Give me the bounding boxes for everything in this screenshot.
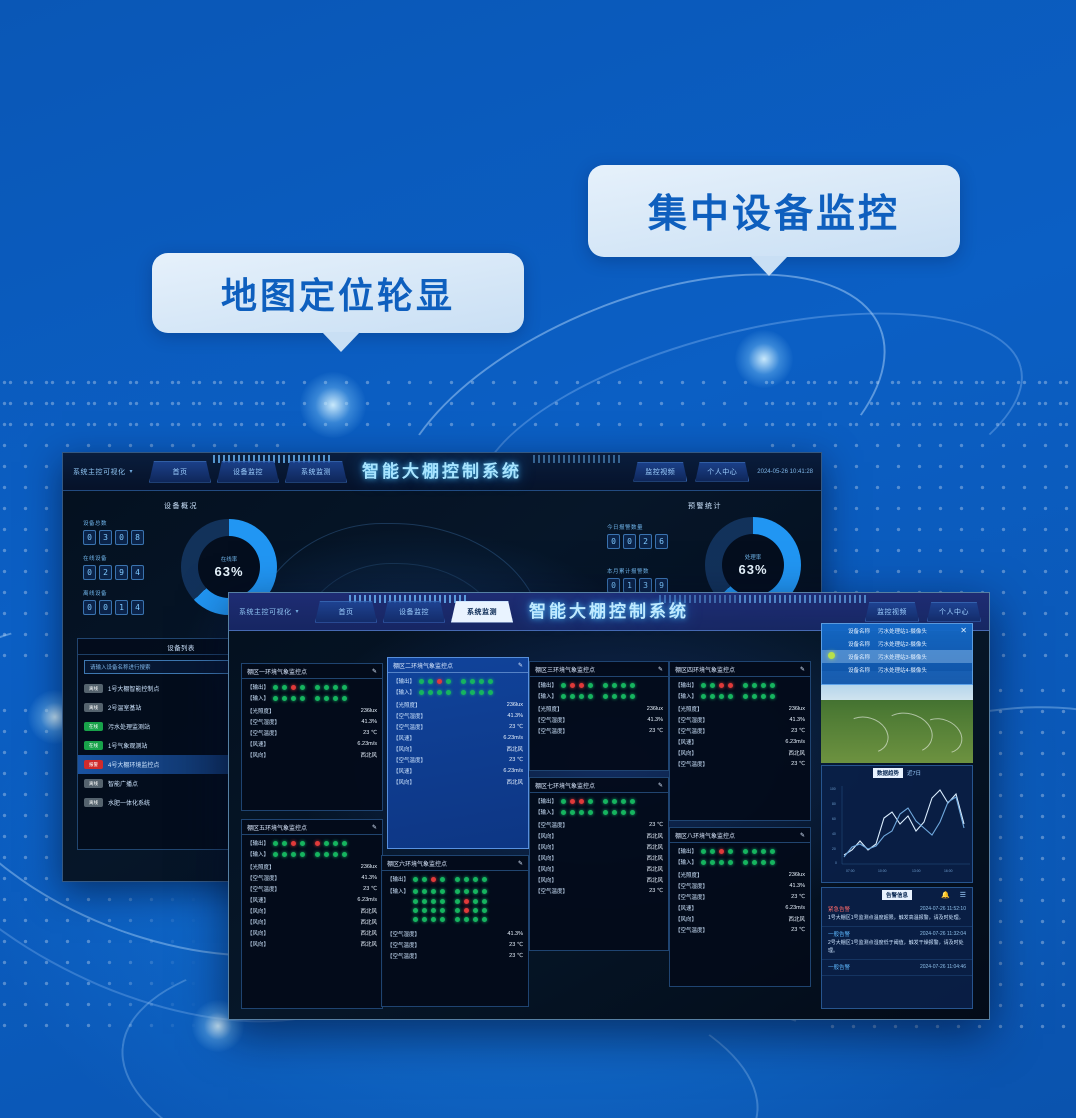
alarm-severity: 一般告警 [828, 930, 850, 938]
svg-text:13:00: 13:00 [912, 869, 921, 873]
output-dot-row: 【输出】 [393, 677, 523, 685]
metric-key: 【风向】 [535, 854, 557, 862]
counter-online-devices-digits: 0 2 9 4 [83, 565, 144, 580]
alarm-log-item[interactable]: 紧急告警 2024-07-26 11:52:10 1号大棚区1号监测点温度超限，… [822, 902, 972, 927]
input-dots-group-2 [315, 696, 347, 701]
metric-value: 6.23m/s [503, 735, 523, 741]
front-tab-devices[interactable]: 设备监控 [383, 601, 445, 623]
monitor-panel-5-title: 棚区五环境气象监控点 [247, 823, 307, 832]
counter-online-devices: 在线设备 0 2 9 4 [83, 554, 144, 580]
counter-total-devices-digits: 0 3 0 8 [83, 530, 144, 545]
input-dots-group-2 [603, 694, 635, 699]
monitor-panel-7-header: 棚区七环境气象监控点 ✎ [530, 778, 668, 793]
input-dots-group-1 [419, 690, 451, 695]
metric-key: 【光照度】 [535, 705, 563, 713]
metric-value: 6.23m/s [357, 897, 377, 903]
counter-offline-devices-digits: 0 0 1 4 [83, 600, 144, 615]
metric-key: 【风向】 [535, 876, 557, 884]
metric-key: 【风速】 [393, 734, 415, 742]
monitor-panel-2-selected[interactable]: 棚区二环境气象监控点 ✎ 【输出】 【输入】 【光照度】236lux 【空气湿度… [387, 657, 529, 849]
metric-row: 【空气温度】23 ℃ [675, 725, 805, 736]
metric-key: 【风向】 [675, 749, 697, 757]
digit: 9 [115, 565, 128, 580]
camera-popup-row[interactable]: 设备名称 污水处理站1-摄像头 [822, 624, 972, 637]
metric-value: 236lux [507, 702, 523, 708]
metric-row: 【风向】西北风 [535, 874, 663, 885]
input-dots-group-1 [561, 810, 593, 815]
camera-row-label: 设备名称 [848, 653, 870, 661]
back-nav-tabs: 首页 设备监控 系统监测 [149, 461, 347, 483]
metric-key: 【光照度】 [247, 863, 275, 871]
metric-value: 41.3% [507, 931, 523, 937]
pencil-icon[interactable]: ✎ [372, 668, 377, 675]
back-tab-profile[interactable]: 个人中心 [695, 462, 749, 482]
svg-text:0: 0 [835, 861, 837, 865]
monitor-panel-4-title: 棚区四环境气象监控点 [675, 665, 735, 674]
metric-value: 41.3% [789, 883, 805, 889]
input-dots-group-1 [273, 852, 305, 857]
metric-value: 西北风 [646, 876, 663, 884]
metric-value: 西北风 [506, 745, 523, 753]
output-dots-group-2 [743, 683, 775, 688]
output-dot-row: 【输出】 [247, 839, 377, 847]
counter-total-devices-label: 设备总数 [83, 519, 144, 527]
metric-key: 【风向】 [247, 918, 269, 926]
metric-value: 23 ℃ [649, 888, 663, 894]
close-icon[interactable]: ✕ [960, 626, 967, 635]
pencil-icon[interactable]: ✎ [658, 782, 663, 789]
monitor-panel-2-header: 棚区二环境气象监控点 ✎ [388, 658, 528, 673]
metric-value: 西北风 [360, 940, 377, 948]
metric-key: 【空气湿度】 [675, 716, 708, 724]
back-gauge-left-donut-hole: 在线率 63% [198, 536, 260, 598]
metric-key: 【风向】 [247, 907, 269, 915]
counter-total-devices: 设备总数 0 3 0 8 [83, 519, 144, 545]
monitor-panel-3-body: 【输出】 【输入】 【光照度】236lux 【空气湿度】41.3% 【空气温度】… [530, 677, 668, 739]
monitor-panel-6[interactable]: 棚区六环境气象监控点 ✎ 【输出】 【输入】 [381, 855, 529, 1007]
monitor-panel-8[interactable]: 棚区八环境气象监控点 ✎ 【输出】 【输入】 【光照度】236lux 【空气湿度… [669, 827, 811, 987]
metric-key: 【空气温度】 [247, 729, 280, 737]
svg-text:100: 100 [830, 787, 836, 791]
matrix-dots-group-2 [455, 917, 487, 922]
metric-key: 【空气湿度】 [247, 874, 280, 882]
metric-row: 【空气温度】23 ℃ [247, 883, 377, 894]
back-gauge-left-value: 63% [214, 564, 243, 579]
digit: 3 [99, 530, 112, 545]
alarm-timestamp: 2024-07-26 11:04:46 [920, 964, 966, 970]
back-nav-left[interactable]: 系统主控可视化 ▾ [63, 467, 133, 477]
metric-row: 【风向】西北风 [535, 830, 663, 841]
metric-key: 【空气湿度】 [675, 882, 708, 890]
digit: 6 [655, 534, 668, 549]
metric-row: 【空气温度】23 ℃ [247, 727, 377, 738]
dashboard-front: 系统主控可视化 ▾ 首页 设备监控 系统监测 智能大棚控制系统 监控视频 个人中… [228, 592, 990, 1020]
back-tab-devices[interactable]: 设备监控 [217, 461, 279, 483]
input-dot-row: 【输入】 [535, 692, 663, 700]
back-tab-home[interactable]: 首页 [149, 461, 211, 483]
status-badge: 报警 [84, 760, 103, 769]
metric-value: 西北风 [788, 915, 805, 923]
matrix-dots-group-2 [455, 908, 487, 913]
digit: 9 [655, 578, 668, 593]
digit: 0 [607, 534, 620, 549]
alarm-log-item[interactable]: 一般告警 2024-07-26 11:32:04 2号大棚区1号监测点湿度低于阈… [822, 927, 972, 960]
output-label: 【输出】 [535, 797, 561, 805]
device-search-placeholder: 请输入设备名称进行搜索 [90, 663, 151, 671]
metric-key: 【风向】 [535, 832, 557, 840]
input-dot-row: 【输入】 [675, 858, 805, 866]
metric-row: 【风速】6.23m/s [675, 902, 805, 913]
camera-row-value: 污水处理站1-摄像头 [878, 627, 927, 635]
input-dots-group-2 [315, 852, 347, 857]
alarm-timestamp: 2024-07-26 11:52:10 [920, 906, 966, 912]
device-name: 1号气象观测站 [108, 741, 147, 750]
metric-row: 【风速】6.23m/s [247, 894, 377, 905]
front-tab-system[interactable]: 系统监测 [451, 601, 513, 623]
location-pin-icon [828, 652, 835, 659]
chart-x-ticks: 07:0010:00 13:0016:00 [846, 869, 953, 873]
metric-key: 【空气温度】 [675, 727, 708, 735]
input-dot-row: 【输入】 [675, 692, 805, 700]
output-dot-row: 【输出】 [675, 847, 805, 855]
monitor-panel-1[interactable]: 棚区一环境气象监控点 ✎ 【输出】 【输入】 【光照度】236lux 【空气湿度… [241, 663, 383, 811]
metric-key: 【空气温度】 [535, 821, 568, 829]
output-dots-group-1 [701, 683, 733, 688]
alarm-message: 2号大棚区1号监测点湿度低于阈值，触发干燥报警，请及时处理。 [828, 940, 966, 955]
metric-value: 23 ℃ [649, 822, 663, 828]
digit: 4 [131, 600, 144, 615]
output-dots-group-1 [561, 799, 593, 804]
digit: 0 [83, 530, 96, 545]
alarm-severity: 紧急告警 [828, 905, 850, 913]
callout-map-text: 地图定位轮显 [221, 267, 455, 319]
digit: 3 [639, 578, 652, 593]
metric-key: 【风向】 [247, 751, 269, 759]
back-tab-system[interactable]: 系统监测 [285, 461, 347, 483]
metric-value: 西北风 [646, 854, 663, 862]
input-dots-group-1 [701, 694, 733, 699]
front-tab-profile[interactable]: 个人中心 [927, 602, 981, 622]
metric-key: 【空气温度】 [675, 760, 708, 768]
camera-popup-row[interactable]: 设备名称 污水处理站2-摄像头 [822, 637, 972, 650]
back-nav-right: 监控视频 个人中心 2024-05-26 10:41:28 [633, 462, 813, 482]
pencil-icon[interactable]: ✎ [800, 832, 805, 839]
metric-key: 【空气温度】 [247, 885, 280, 893]
metric-value: 236lux [789, 872, 805, 878]
metric-row: 【风向】西北风 [247, 905, 377, 916]
input-label: 【输入】 [387, 887, 413, 895]
metric-key: 【风向】 [247, 929, 269, 937]
monitor-panel-4-header: 棚区四环境气象监控点 ✎ [670, 662, 810, 677]
alarm-log-header: 告警信息 🔔 ☰ [822, 888, 972, 902]
input-label: 【输入】 [247, 850, 273, 858]
input-dots-group-2 [461, 690, 493, 695]
metric-value: 23 ℃ [791, 894, 805, 900]
metric-key: 【空气温度】 [393, 756, 426, 764]
svg-text:60: 60 [832, 817, 836, 821]
output-dots-group-1 [273, 685, 305, 690]
camera-selection-popup: ✕ 设备名称 污水处理站1-摄像头 设备名称 污水处理站2-摄像头 设备名称 污… [821, 623, 973, 685]
back-gauge-right-caption: 处理率 [745, 553, 762, 561]
list-icon[interactable]: ☰ [960, 891, 966, 899]
metric-value: 236lux [647, 706, 663, 712]
metric-key: 【风速】 [247, 896, 269, 904]
metric-row: 【风向】西北风 [393, 743, 523, 754]
metric-row: 【空气温度】23 ℃ [387, 939, 523, 950]
front-nav-left[interactable]: 系统主控可视化 ▾ [229, 607, 299, 617]
monitor-panel-5-header: 棚区五环境气象监控点 ✎ [242, 820, 382, 835]
metric-value: 西北风 [646, 832, 663, 840]
trend-chart-tag2[interactable]: 近7日 [907, 769, 921, 777]
svg-text:20: 20 [832, 847, 836, 851]
metric-key: 【光照度】 [675, 871, 703, 879]
back-nav-clock: 2024-05-26 10:41:28 [757, 469, 813, 475]
output-dot-row: 【输出】 [675, 681, 805, 689]
bell-icon[interactable]: 🔔 [941, 891, 950, 899]
matrix-dots-group-1 [413, 889, 445, 894]
back-dashboard-title: 智能大棚控制系统 [362, 457, 522, 482]
metric-row: 【空气湿度】41.3% [387, 928, 523, 939]
back-gauge-right-value: 63% [738, 562, 767, 577]
trend-chart-header: 数据趋势 近7日 [822, 766, 972, 780]
matrix-dots-group-2 [455, 899, 487, 904]
metric-key: 【空气湿度】 [535, 716, 568, 724]
metric-row: 【空气温度】23 ℃ [535, 725, 663, 736]
output-label: 【输出】 [247, 683, 273, 691]
output-label: 【输出】 [247, 839, 273, 847]
metric-row: 【风速】6.23m/s [247, 738, 377, 749]
monitor-panel-5[interactable]: 棚区五环境气象监控点 ✎ 【输出】 【输入】 【光照度】236lux 【空气湿度… [241, 819, 383, 1009]
metric-value: 23 ℃ [509, 942, 523, 948]
alarm-timestamp: 2024-07-26 11:32:04 [920, 931, 966, 937]
chevron-down-icon: ▾ [130, 468, 134, 475]
camera-row-label: 设备名称 [848, 627, 870, 635]
metric-row: 【空气湿度】41.3% [535, 714, 663, 725]
output-label: 【输出】 [675, 847, 701, 855]
metric-value: 23 ℃ [649, 728, 663, 734]
metric-key: 【空气温度】 [675, 926, 708, 934]
metric-value: 6.23m/s [785, 739, 805, 745]
input-dots-group-1 [561, 694, 593, 699]
metric-key: 【空气温度】 [535, 727, 568, 735]
front-nav-tabs: 首页 设备监控 系统监测 [315, 601, 513, 623]
digit: 0 [99, 600, 112, 615]
metric-row: 【空气温度】23 ℃ [675, 924, 805, 935]
input-dots-group-2 [743, 694, 775, 699]
digit: 8 [131, 530, 144, 545]
pencil-icon[interactable]: ✎ [658, 666, 663, 673]
device-name: 4号大棚环境监控点 [108, 760, 159, 769]
svg-text:40: 40 [832, 832, 836, 836]
pencil-icon[interactable]: ✎ [518, 860, 523, 867]
device-name: 1号大棚智能控制点 [108, 684, 159, 693]
metric-key: 【光照度】 [247, 707, 275, 715]
metric-value: 西北风 [360, 929, 377, 937]
output-dots-group-2 [603, 799, 635, 804]
input-dot-row: 【输入】 [247, 850, 377, 858]
metric-row: 【光照度】236lux [247, 861, 377, 872]
svg-text:07:00: 07:00 [846, 869, 855, 873]
digit: 0 [115, 530, 128, 545]
back-navbar: 系统主控可视化 ▾ 首页 设备监控 系统监测 智能大棚控制系统 监控视频 个人中… [63, 453, 821, 491]
alarm-message: 1号大棚区1号监测点温度超限，触发高温报警，请及时处理。 [828, 915, 966, 922]
metric-key: 【风向】 [535, 843, 557, 851]
status-badge: 离线 [84, 684, 103, 693]
metric-value: 西北风 [506, 778, 523, 786]
matrix-row [387, 899, 523, 904]
metric-row: 【风向】西北风 [247, 916, 377, 927]
digit: 2 [639, 534, 652, 549]
output-dots-group-2 [315, 841, 347, 846]
metric-row: 【空气湿度】41.3% [247, 716, 377, 727]
alarm-log-tag[interactable]: 告警信息 [882, 890, 912, 900]
matrix-dots-group-1 [413, 877, 445, 882]
metric-value: 西北风 [788, 749, 805, 757]
input-dots-group-1 [273, 696, 305, 701]
metric-row: 【空气温度】23 ℃ [393, 754, 523, 765]
monitor-panel-6-title: 棚区六环境气象监控点 [387, 859, 447, 868]
output-label: 【输出】 [387, 875, 413, 883]
pencil-icon[interactable]: ✎ [518, 662, 523, 669]
metric-row: 【空气湿度】41.3% [675, 714, 805, 725]
input-label: 【输入】 [393, 688, 419, 696]
metric-row: 【空气温度】23 ℃ [675, 891, 805, 902]
front-nav-right: 监控视频 个人中心 [865, 602, 981, 622]
metric-row: 【风向】西北风 [675, 913, 805, 924]
metric-row: 【空气湿度】41.3% [393, 710, 523, 721]
pencil-icon[interactable]: ✎ [800, 666, 805, 673]
front-tab-video[interactable]: 监控视频 [865, 602, 919, 622]
front-dashboard-title: 智能大棚控制系统 [529, 597, 689, 622]
monitor-panel-5-body: 【输出】 【输入】 【光照度】236lux 【空气湿度】41.3% 【空气温度】… [242, 835, 382, 952]
alarm-log-item[interactable]: 一般告警 2024-07-26 11:04:46 [822, 960, 972, 976]
camera-popup-row-selected[interactable]: 设备名称 污水处理站3-摄像头 [822, 650, 972, 663]
digit: 0 [83, 600, 96, 615]
monitor-panel-4[interactable]: 棚区四环境气象监控点 ✎ 【输出】 【输入】 【光照度】236lux 【空气湿度… [669, 661, 811, 821]
metric-value: 6.23m/s [357, 741, 377, 747]
metric-key: 【风向】 [675, 915, 697, 923]
device-name: 智能广播点 [108, 779, 138, 788]
input-label: 【输入】 [535, 692, 561, 700]
counter-today-alarms: 今日报警数量 0 0 2 6 [607, 523, 668, 549]
metric-value: 23 ℃ [363, 886, 377, 892]
back-tab-video[interactable]: 监控视频 [633, 462, 687, 482]
back-gauge-right-donut-hole: 处理率 63% [722, 534, 784, 596]
metric-value: 236lux [789, 706, 805, 712]
alarm-log-item-top: 紧急告警 2024-07-26 11:52:10 [828, 905, 966, 913]
metric-row: 【风向】西北风 [535, 852, 663, 863]
back-gauge-left-title: 设备概况 [164, 501, 198, 511]
device-list-title: 设备列表 [167, 642, 195, 652]
pencil-icon[interactable]: ✎ [372, 824, 377, 831]
metric-value: 41.3% [647, 717, 663, 723]
alarm-log-item-top: 一般告警 2024-07-26 11:32:04 [828, 930, 966, 938]
metric-row: 【风向】西北风 [247, 749, 377, 760]
navbar-tick-decor-2 [533, 455, 623, 463]
chart-axes [842, 786, 970, 864]
metric-row: 【风速】6.23m/s [393, 732, 523, 743]
status-badge: 离线 [84, 798, 103, 807]
metric-value: 西北风 [360, 918, 377, 926]
svg-text:10:00: 10:00 [878, 869, 887, 873]
counter-today-alarms-digits: 0 0 2 6 [607, 534, 668, 549]
metric-key: 【空气湿度】 [387, 930, 420, 938]
metric-key: 【风速】 [675, 904, 697, 912]
digit: 1 [623, 578, 636, 593]
monitor-panel-3-header: 棚区三环境气象监控点 ✎ [530, 662, 668, 677]
metric-key: 【风向】 [535, 865, 557, 873]
metric-value: 236lux [361, 864, 377, 870]
input-dot-row: 【输入】 [247, 694, 377, 702]
input-label: 【输入】 [675, 692, 701, 700]
monitor-panel-1-body: 【输出】 【输入】 【光照度】236lux 【空气湿度】41.3% 【空气温度】… [242, 679, 382, 763]
digit: 0 [623, 534, 636, 549]
monitor-panel-7[interactable]: 棚区七环境气象监控点 ✎ 【输出】 【输入】 【空气温度】23 ℃ 【风向】西北… [529, 777, 669, 951]
trend-chart-tag[interactable]: 数据趋势 [873, 768, 903, 778]
status-dot-matrix: 【输出】 【输入】 [387, 875, 523, 922]
device-name: 水肥一体化系统 [108, 798, 150, 807]
matrix-dots-group-1 [413, 899, 445, 904]
monitor-panel-6-header: 棚区六环境气象监控点 ✎ [382, 856, 528, 871]
metric-key: 【风向】 [393, 745, 415, 753]
back-gauge-right-title: 预警统计 [688, 501, 722, 511]
alarm-severity: 一般告警 [828, 963, 850, 971]
matrix-row [387, 917, 523, 922]
digit: 2 [99, 565, 112, 580]
monitor-panel-8-title: 棚区八环境气象监控点 [675, 831, 735, 840]
metric-row: 【空气温度】23 ℃ [535, 819, 663, 830]
camera-row-value: 污水处理站2-摄像头 [878, 640, 927, 648]
svg-text:16:00: 16:00 [944, 869, 953, 873]
metric-key: 【光照度】 [393, 701, 421, 709]
input-label: 【输入】 [675, 858, 701, 866]
metric-value: 236lux [361, 708, 377, 714]
metric-row: 【风速】6.23m/s [675, 736, 805, 747]
metric-value: 6.23m/s [785, 905, 805, 911]
input-dot-row: 【输入】 [393, 688, 523, 696]
monitor-panel-3-title: 棚区三环境气象监控点 [535, 665, 595, 674]
metric-key: 【空气温度】 [675, 893, 708, 901]
camera-popup-row[interactable]: 设备名称 污水处理站4-摄像头 [822, 663, 972, 676]
alarm-log-panel: 告警信息 🔔 ☰ 紧急告警 2024-07-26 11:52:10 1号大棚区1… [821, 887, 973, 1009]
status-badge: 离线 [84, 779, 103, 788]
metric-value: 41.3% [507, 713, 523, 719]
input-label: 【输入】 [535, 808, 561, 816]
output-dot-row: 【输出】 [247, 683, 377, 691]
matrix-dots-group-2 [455, 877, 487, 882]
metric-row: 【风向】西北风 [535, 863, 663, 874]
output-dot-row: 【输出】 [535, 797, 663, 805]
metric-value: 23 ℃ [363, 730, 377, 736]
metric-value: 西北风 [646, 865, 663, 873]
counter-month-alarms-digits: 0 1 3 9 [607, 578, 668, 593]
metric-value: 41.3% [361, 719, 377, 725]
metric-row: 【光照度】236lux [247, 705, 377, 716]
output-dots-group-1 [561, 683, 593, 688]
matrix-dots-group-2 [455, 889, 487, 894]
monitor-panel-3[interactable]: 棚区三环境气象监控点 ✎ 【输出】 【输入】 【光照度】236lux 【空气湿度… [529, 661, 669, 771]
front-tab-home[interactable]: 首页 [315, 601, 377, 623]
metric-value: 23 ℃ [791, 728, 805, 734]
callout-bubble-monitor: 集中设备监控 [588, 165, 960, 257]
metric-row: 【空气温度】23 ℃ [675, 758, 805, 769]
front-navbar-tick-decor-3 [739, 595, 869, 603]
metric-key: 【风速】 [675, 738, 697, 746]
output-dots-group-1 [273, 841, 305, 846]
metric-row: 【光照度】236lux [675, 703, 805, 714]
metric-key: 【空气温度】 [387, 952, 420, 960]
output-dots-group-2 [743, 849, 775, 854]
